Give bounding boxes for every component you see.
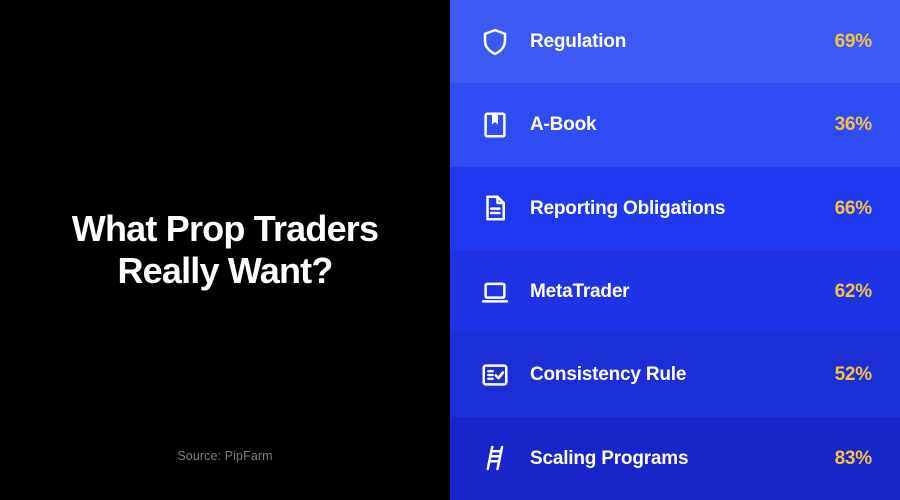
stat-row[interactable]: MetaTrader 62%: [450, 250, 900, 333]
stat-row[interactable]: Reporting Obligations 66%: [450, 167, 900, 250]
stat-value: 66%: [820, 199, 872, 218]
stat-list: Regulation 69% A-Book 36%: [450, 0, 900, 500]
laptop-icon: [478, 275, 512, 309]
stat-label: A-Book: [530, 115, 820, 134]
stat-value: 69%: [820, 32, 872, 51]
ladder-icon: [478, 441, 512, 475]
source-attribution: Source: PipFarm: [0, 449, 450, 463]
stat-label: Reporting Obligations: [530, 199, 820, 218]
stat-label: Regulation: [530, 32, 820, 51]
stat-row[interactable]: Scaling Programs 83%: [450, 417, 900, 500]
stat-row[interactable]: A-Book 36%: [450, 83, 900, 166]
title-panel: What Prop Traders Really Want? Source: P…: [0, 0, 450, 500]
stat-row[interactable]: Regulation 69%: [450, 0, 900, 83]
stat-label: Scaling Programs: [530, 449, 820, 468]
checklist-icon: [478, 358, 512, 392]
stat-value: 52%: [820, 365, 872, 384]
book-bookmark-icon: [478, 108, 512, 142]
stat-value: 62%: [820, 282, 872, 301]
infographic-canvas: What Prop Traders Really Want? Source: P…: [0, 0, 900, 500]
page-title: What Prop Traders Really Want?: [25, 208, 425, 292]
stat-value: 36%: [820, 115, 872, 134]
shield-icon: [478, 25, 512, 59]
stat-value: 83%: [820, 449, 872, 468]
stat-label: MetaTrader: [530, 282, 820, 301]
document-text-icon: [478, 191, 512, 225]
stat-row[interactable]: Consistency Rule 52%: [450, 333, 900, 416]
stat-label: Consistency Rule: [530, 365, 820, 384]
